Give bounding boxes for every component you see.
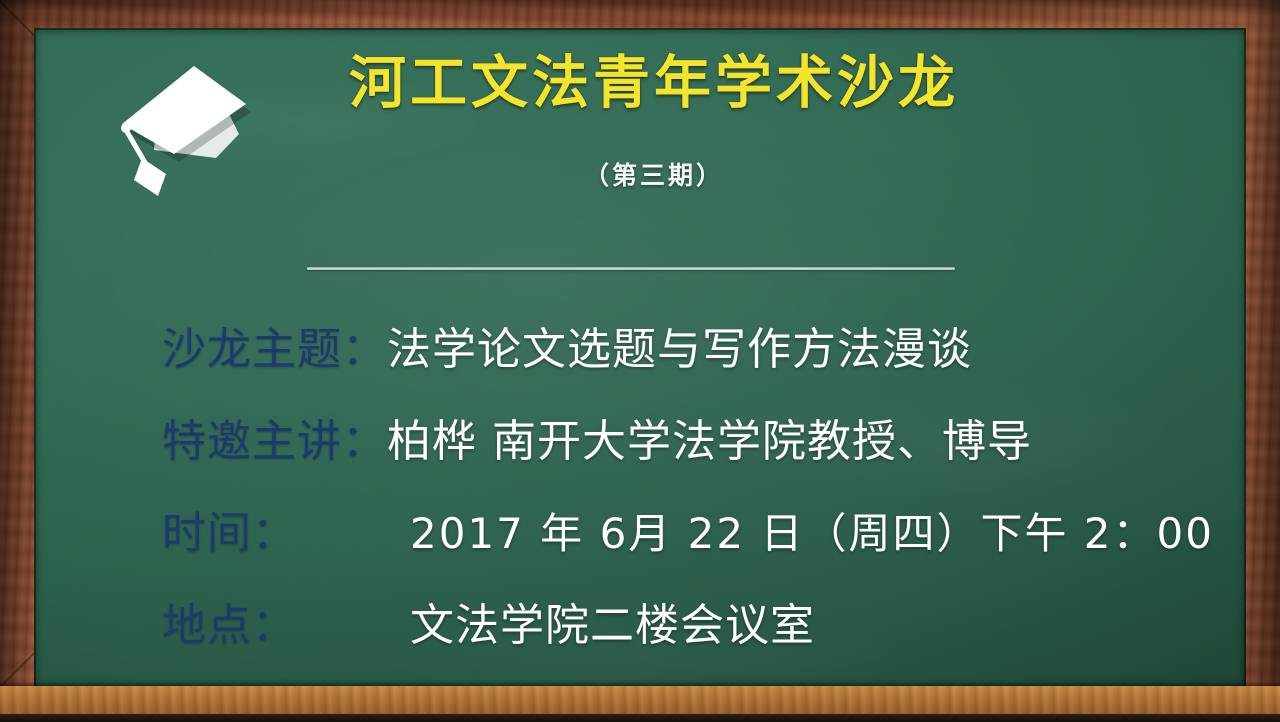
title-divider: [307, 267, 955, 270]
info-value-topic: 法学论文选题与写作方法漫谈: [387, 313, 972, 377]
title-block: 河工文法青年学术沙龙 （第三期）: [274, 52, 1034, 192]
info-label-speaker: 特邀主讲：: [162, 405, 387, 469]
info-value-speaker: 柏桦 南开大学法学院教授、博导: [387, 405, 1032, 469]
info-row-time: 时间： 2017 年 6月 22 日（周四）下午 2：00: [162, 497, 1222, 589]
info-row-speaker: 特邀主讲： 柏桦 南开大学法学院教授、博导: [162, 405, 1222, 497]
chalk-tray: [0, 686, 1280, 714]
graduation-cap-icon: [96, 46, 266, 206]
info-label-location: 地点：: [162, 589, 410, 653]
event-poster: 河工文法青年学术沙龙 （第三期） 沙龙主题： 法学论文选题与写作方法漫谈 特邀主…: [0, 0, 1280, 722]
bottom-edge: [0, 714, 1280, 722]
info-row-topic: 沙龙主题： 法学论文选题与写作方法漫谈: [162, 313, 1222, 405]
info-label-topic: 沙龙主题：: [162, 313, 387, 377]
main-title: 河工文法青年学术沙龙: [274, 52, 1034, 116]
info-row-location: 地点： 文法学院二楼会议室: [162, 589, 1222, 681]
info-value-location: 文法学院二楼会议室: [410, 589, 815, 653]
chalkboard-surface: 河工文法青年学术沙龙 （第三期） 沙龙主题： 法学论文选题与写作方法漫谈 特邀主…: [34, 28, 1246, 690]
info-list: 沙龙主题： 法学论文选题与写作方法漫谈 特邀主讲： 柏桦 南开大学法学院教授、博…: [162, 313, 1222, 681]
sub-title: （第三期）: [274, 156, 1034, 192]
info-value-time: 2017 年 6月 22 日（周四）下午 2：00: [410, 500, 1214, 561]
info-label-time: 时间：: [162, 497, 410, 561]
